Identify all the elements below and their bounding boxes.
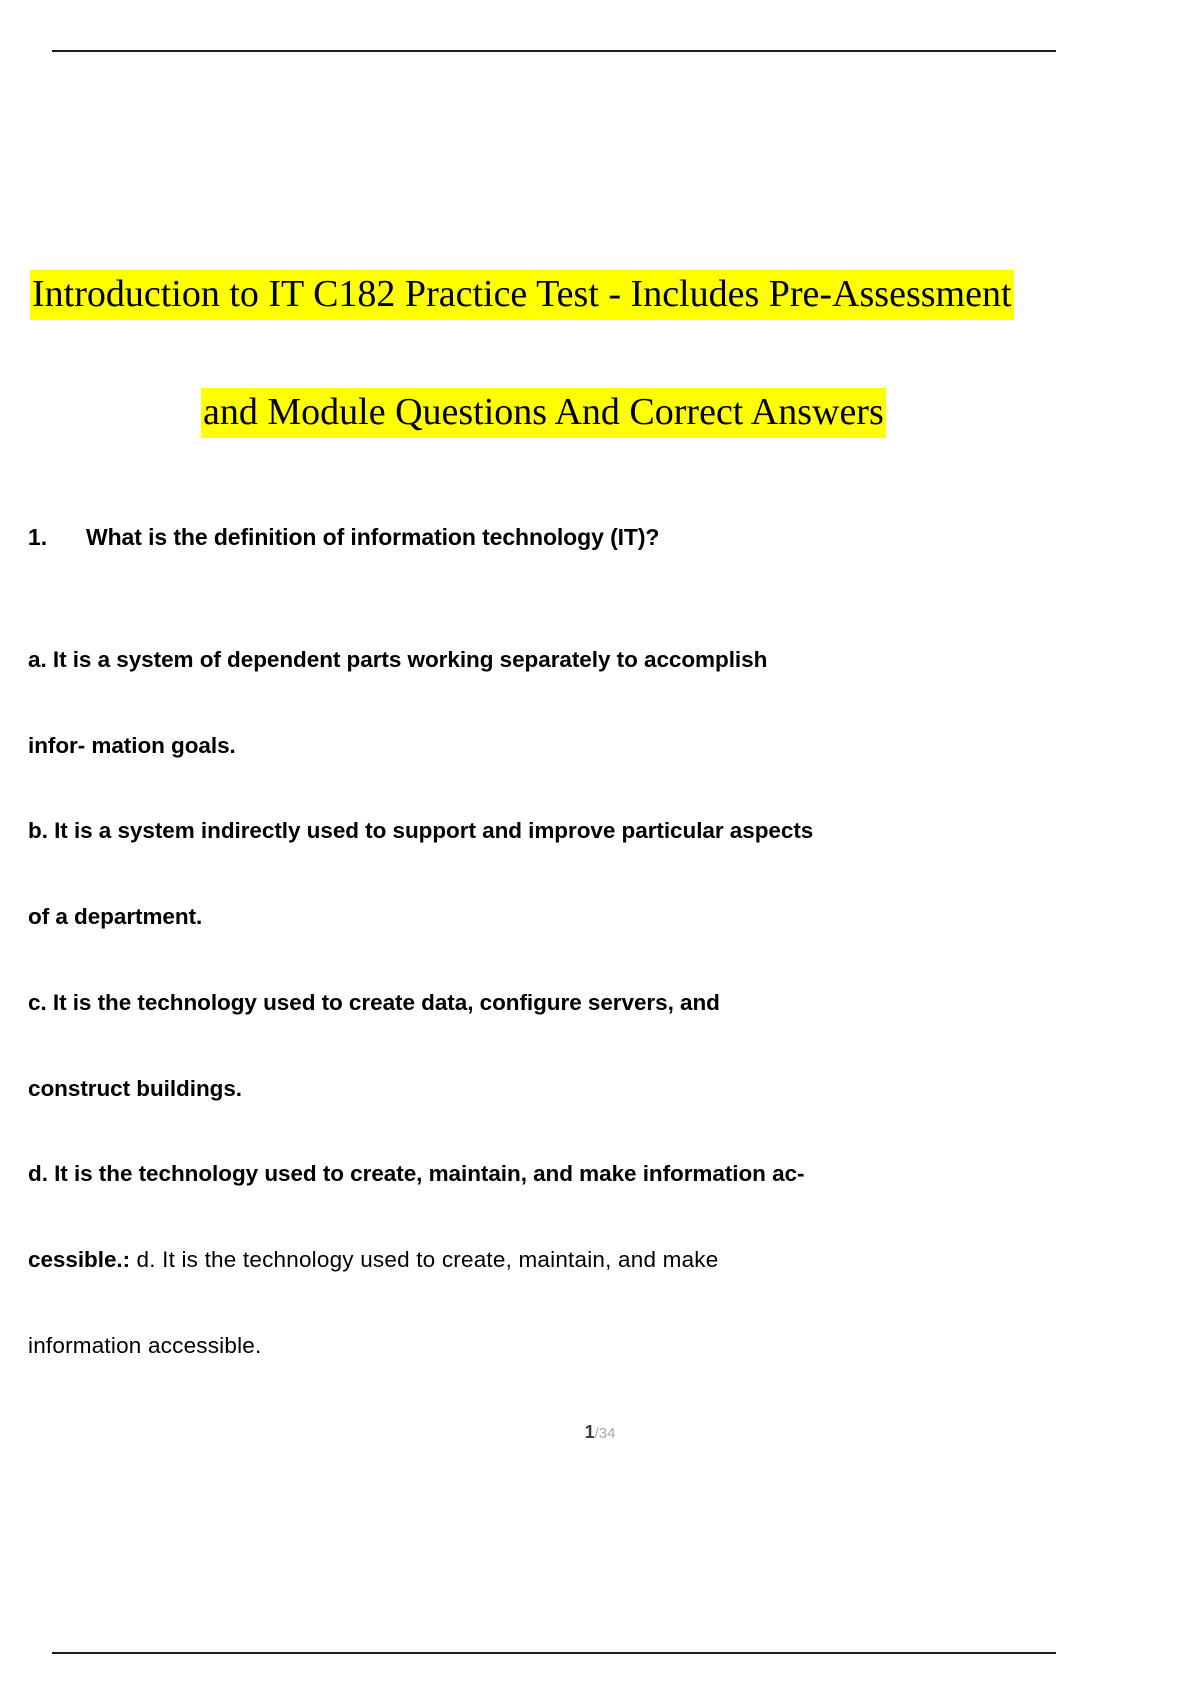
document-page: Introduction to IT C182 Practice Test - … xyxy=(0,0,1200,1700)
option-d-line-1: d. It is the technology used to create, … xyxy=(28,1160,804,1187)
title-highlight-2: and Module Questions And Correct Answers xyxy=(201,388,886,438)
total-page-count: 34 xyxy=(599,1425,616,1442)
answer-lead-in: cessible.: xyxy=(28,1247,130,1272)
document-title-line-2: and Module Questions And Correct Answers xyxy=(201,393,886,431)
option-b-line-1: b. It is a system indirectly used to sup… xyxy=(28,817,813,844)
page-bottom-rule xyxy=(52,1652,1056,1654)
document-title-line-1: Introduction to IT C182 Practice Test - … xyxy=(30,275,1014,313)
page-top-rule xyxy=(52,50,1056,52)
question-1: 1. What is the definition of information… xyxy=(28,524,659,551)
option-a-line-1: a. It is a system of dependent parts wor… xyxy=(28,646,767,673)
current-page-number: 1 xyxy=(585,1422,595,1442)
title-highlight-1: Introduction to IT C182 Practice Test - … xyxy=(30,270,1014,320)
question-number: 1. xyxy=(28,524,86,551)
page-footer: 1/34 xyxy=(0,1422,1200,1443)
answer-text-line-2: information accessible. xyxy=(28,1332,261,1359)
answer-line-1: cessible.: d. It is the technology used … xyxy=(28,1246,718,1273)
answer-text-line-1: d. It is the technology used to create, … xyxy=(130,1247,718,1272)
option-c-line-1: c. It is the technology used to create d… xyxy=(28,989,720,1016)
option-a-line-2: infor- mation goals. xyxy=(28,732,236,759)
option-c-line-2: construct buildings. xyxy=(28,1075,242,1102)
option-b-line-2: of a department. xyxy=(28,903,202,930)
question-text: What is the definition of information te… xyxy=(86,524,659,551)
